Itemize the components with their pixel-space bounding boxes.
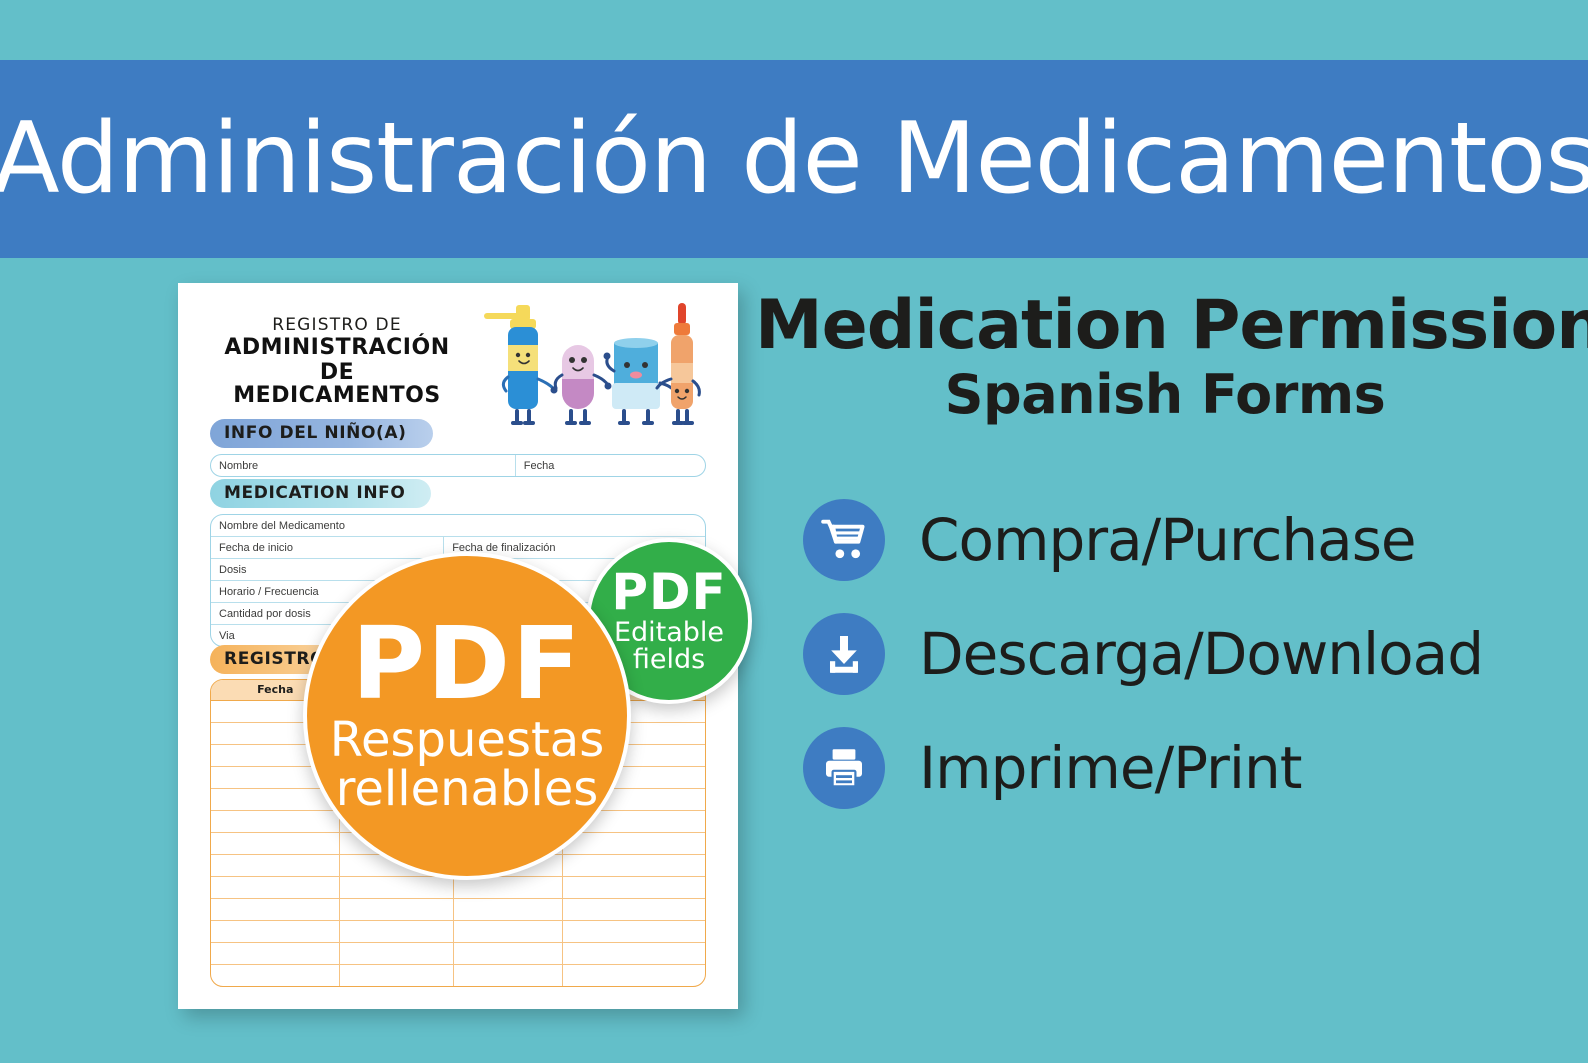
capsule-character [555, 345, 611, 425]
table-cell[interactable] [562, 921, 705, 942]
feature-list: Compra/Purchase Descarga/Download [755, 498, 1575, 810]
table-cell[interactable] [562, 965, 705, 986]
field-label-fecha-inicio: Fecha de inicio [211, 537, 443, 558]
product-subheadline: Spanish Forms [755, 367, 1575, 424]
page-title: Administración de Medicamentos [0, 110, 1588, 208]
table-cell[interactable] [453, 899, 562, 920]
field-row[interactable]: Nombre Fecha [211, 455, 705, 476]
table-cell[interactable] [562, 855, 705, 876]
table-cell[interactable] [453, 921, 562, 942]
table-cell[interactable] [211, 877, 339, 898]
badge-green-line2: Editable [614, 619, 724, 646]
download-icon [803, 613, 885, 695]
table-row[interactable] [211, 921, 705, 943]
product-headline: Medication Permission [755, 290, 1575, 361]
table-row[interactable] [211, 965, 705, 986]
table-cell[interactable] [339, 899, 453, 920]
table-row[interactable] [211, 877, 705, 899]
field-row[interactable]: Nombre del Medicamento [211, 515, 705, 537]
feature-label-purchase: Compra/Purchase [919, 506, 1416, 574]
document-title-line1: ADMINISTRACIÓN [222, 337, 452, 360]
field-label-fecha: Fecha [515, 455, 705, 476]
shopping-cart-icon [803, 499, 885, 581]
table-cell[interactable] [211, 921, 339, 942]
spray-bottle-character [484, 305, 558, 425]
table-cell[interactable] [339, 943, 453, 964]
table-row[interactable] [211, 943, 705, 965]
table-cell[interactable] [211, 833, 339, 854]
table-cell[interactable] [339, 921, 453, 942]
field-label-via: Via [211, 625, 338, 646]
table-cell[interactable] [453, 877, 562, 898]
dropper-bottle-character [657, 303, 699, 425]
table-cell[interactable] [453, 943, 562, 964]
table-cell[interactable] [211, 855, 339, 876]
feature-item-download[interactable]: Descarga/Download [803, 612, 1575, 696]
table-cell[interactable] [562, 899, 705, 920]
badge-green-line1: PDF [611, 569, 726, 617]
document-header: REGISTRO DE ADMINISTRACIÓN DE MEDICAMENT… [178, 283, 738, 403]
table-cell[interactable] [211, 811, 339, 832]
section-child-info: INFO DEL NIÑO(A) Nombre Fecha [210, 419, 706, 477]
table-cell[interactable] [339, 965, 453, 986]
table-cell[interactable] [211, 899, 339, 920]
field-label-nombre-medicamento: Nombre del Medicamento [211, 515, 705, 536]
table-cell[interactable] [211, 965, 339, 986]
table-cell[interactable] [211, 943, 339, 964]
document-title-block: REGISTRO DE ADMINISTRACIÓN DE MEDICAMENT… [222, 315, 452, 408]
table-cell[interactable] [562, 833, 705, 854]
feature-item-purchase[interactable]: Compra/Purchase [803, 498, 1575, 582]
document-title-line2: DE MEDICAMENTOS [222, 362, 452, 408]
right-content-column: Medication Permission Spanish Forms Comp… [755, 290, 1575, 930]
table-row[interactable] [211, 899, 705, 921]
document-kicker: REGISTRO DE [222, 315, 452, 335]
feature-label-print: Imprime/Print [919, 734, 1302, 802]
badge-orange-line1: PDF [352, 618, 583, 710]
badge-pdf-rellenable: PDF Respuestas rellenables [303, 552, 631, 880]
section-heading-child-info: INFO DEL NIÑO(A) [210, 419, 433, 448]
medicine-characters-illustration [474, 297, 706, 429]
table-cell[interactable] [562, 877, 705, 898]
printer-icon [803, 727, 885, 809]
table-cell[interactable] [211, 789, 339, 810]
table-cell[interactable] [562, 943, 705, 964]
badge-green-line3: fields [633, 646, 705, 673]
table-cell[interactable] [339, 877, 453, 898]
field-label-nombre: Nombre [211, 455, 515, 476]
header-banner: Administración de Medicamentos [0, 60, 1588, 258]
badge-orange-line3: rellenables [336, 765, 599, 814]
table-cell[interactable] [453, 965, 562, 986]
badge-orange-line2: Respuestas [330, 716, 604, 765]
child-info-fieldbox: Nombre Fecha [210, 454, 706, 477]
section-heading-medication-info: MEDICATION INFO [210, 479, 431, 508]
feature-label-download: Descarga/Download [919, 620, 1483, 688]
feature-item-print[interactable]: Imprime/Print [803, 726, 1575, 810]
